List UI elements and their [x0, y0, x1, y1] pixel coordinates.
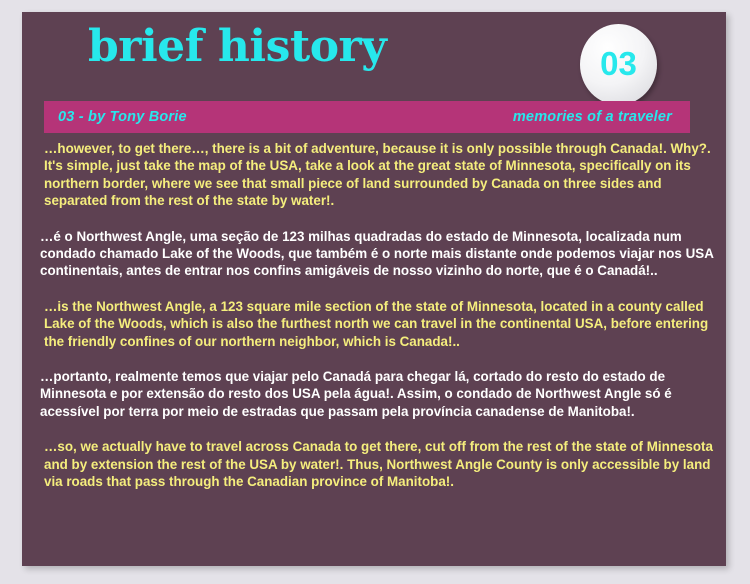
byline-bar: 03 - by Tony Borie memories of a travele…	[44, 101, 690, 133]
page-stage: brief history 03 03 - by Tony Borie memo…	[0, 0, 750, 584]
paragraph: …is the Northwest Angle, a 123 square mi…	[22, 298, 726, 350]
paragraph: …portanto, realmente temos que viajar pe…	[22, 368, 726, 420]
article-body: …however, to get there…, there is a bit …	[22, 140, 726, 491]
article-header: brief history 03	[22, 12, 726, 101]
issue-number-label: 03	[600, 47, 637, 80]
paragraph: …so, we actually have to travel across C…	[22, 438, 726, 490]
issue-number-badge: 03	[580, 24, 657, 105]
paragraph: …é o Northwest Angle, uma seção de 123 m…	[22, 228, 726, 280]
paragraph: …however, to get there…, there is a bit …	[22, 140, 726, 210]
byline-tagline: memories of a traveler	[513, 109, 672, 125]
article-panel: brief history 03 03 - by Tony Borie memo…	[22, 12, 726, 566]
page-title: brief history	[88, 25, 386, 69]
byline-author: 03 - by Tony Borie	[58, 109, 187, 125]
